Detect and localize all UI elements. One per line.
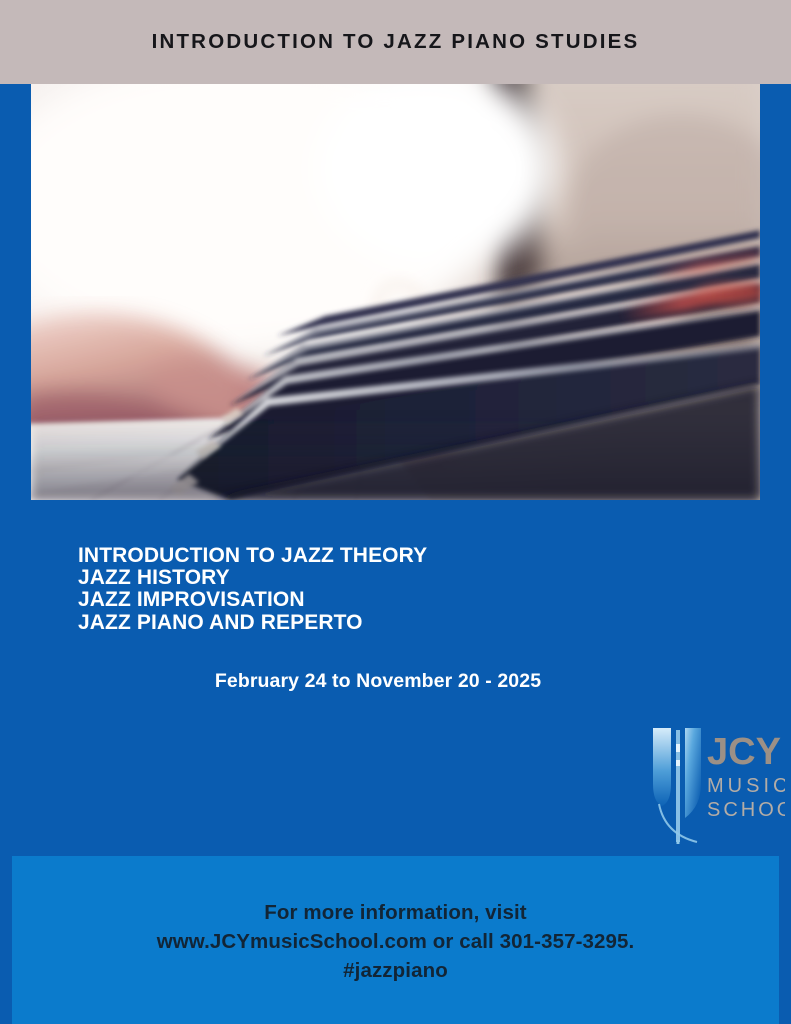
course-item: JAZZ HISTORY — [78, 567, 638, 589]
header-band: INTRODUCTION TO JAZZ PIANO STUDIES — [0, 0, 791, 84]
logo-music-text: MUSIC — [707, 775, 785, 797]
piano-photo-illustration — [31, 84, 760, 500]
course-item: JAZZ PIANO AND REPERTO — [78, 612, 638, 634]
footer-box: For more information, visit www.JCYmusic… — [12, 856, 779, 1024]
course-list: INTRODUCTION TO JAZZ THEORY JAZZ HISTORY… — [78, 545, 638, 634]
logo-school-text: SCHOOL — [707, 799, 785, 821]
course-item: JAZZ IMPROVISATION — [78, 589, 638, 611]
page-title: INTRODUCTION TO JAZZ PIANO STUDIES — [152, 30, 640, 54]
jcy-logo: JCY MUSIC SCHOOL — [645, 722, 785, 847]
poster-root: INTRODUCTION TO JAZZ PIANO STUDIES — [0, 0, 791, 1024]
date-range: February 24 to November 20 - 2025 — [78, 670, 678, 693]
footer-line-1: For more information, visit — [264, 898, 526, 927]
jcy-logo-svg: JCY MUSIC SCHOOL — [645, 722, 785, 847]
footer-line-2: www.JCYmusicSchool.com or call 301-357-3… — [157, 927, 635, 956]
tuning-fork-mark — [653, 728, 701, 844]
course-item: INTRODUCTION TO JAZZ THEORY — [78, 545, 638, 567]
piano-hands-photo — [31, 84, 760, 500]
logo-brand-text: JCY — [707, 731, 781, 773]
footer-line-3: #jazzpiano — [343, 956, 448, 985]
